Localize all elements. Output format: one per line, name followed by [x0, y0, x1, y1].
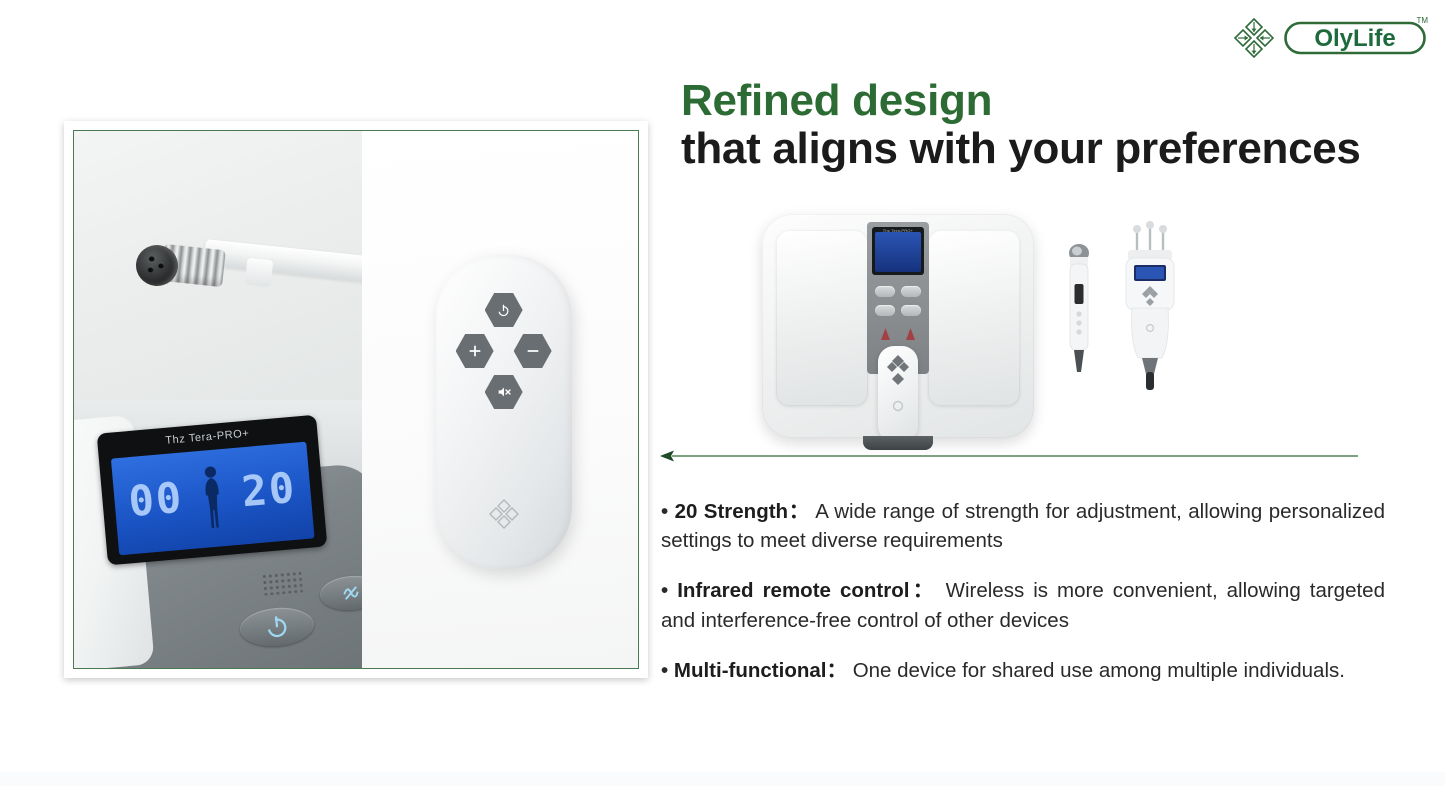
right-treatment-pad	[928, 230, 1020, 406]
cable-strain-relief	[245, 258, 274, 288]
brand-logo: OlyLife TM	[1232, 16, 1426, 60]
panel-button-3[interactable]	[875, 305, 895, 316]
product-photo-panel: Thz Tera-PRO+ 00 20	[64, 121, 648, 678]
device-panel-lcd-screen	[875, 232, 921, 272]
remote-control-photo	[362, 131, 638, 668]
three-prong-handheld-probe	[1120, 220, 1180, 392]
device-lcd-bezel: Thz Tera-PRO+ 00 20	[97, 414, 328, 565]
product-hero-row: Thz Tera-PRO+	[700, 200, 1400, 440]
panel-indicator-right	[906, 328, 915, 340]
bullet-marker: •	[661, 659, 668, 682]
brand-wordmark: OlyLife TM	[1284, 20, 1426, 56]
small-handheld-probe	[1066, 242, 1092, 382]
lcd-body-figure-icon	[199, 463, 227, 533]
headline-line-2: that aligns with your preferences	[681, 124, 1421, 173]
cable-body	[203, 239, 361, 289]
remote-control-body	[436, 255, 572, 569]
bullet-lead: 20 Strength：	[675, 500, 810, 523]
bullet-lead: Multi-functional：	[674, 659, 847, 682]
slide-bottom-strip	[0, 772, 1445, 786]
connector-pin	[158, 262, 165, 269]
feature-bullet-list: • 20 Strength： A wide range of strength …	[661, 476, 1385, 686]
connector-pin	[148, 255, 155, 262]
remote-mute-button[interactable]	[485, 375, 523, 409]
bullet-text: One device for shared use among multiple…	[853, 659, 1345, 682]
lcd-right-value: 20	[240, 462, 299, 516]
device-dock-foot	[863, 436, 933, 450]
connector-pin	[147, 266, 154, 273]
cable-connector-photo	[74, 131, 362, 400]
list-item: • Multi-functional： One device for share…	[661, 656, 1385, 686]
collage-left-column: Thz Tera-PRO+ 00 20	[74, 131, 362, 668]
headline-line-1: Refined design	[681, 78, 1421, 124]
svg-text:OlyLife: OlyLife	[1314, 25, 1395, 52]
device-panel-lcd: Thz Tera-PRO+	[872, 227, 924, 275]
docked-remote	[878, 346, 918, 442]
remote-clover-logo-icon	[487, 497, 521, 531]
lcd-left-value: 00	[127, 472, 186, 526]
panel-button-2[interactable]	[901, 286, 921, 297]
device-closeup-photo: Thz Tera-PRO+ 00 20	[74, 400, 362, 669]
panel-indicator-left	[881, 328, 890, 340]
bullet-marker: •	[661, 500, 668, 523]
trademark-symbol: TM	[1416, 16, 1428, 25]
panel-button-4[interactable]	[901, 305, 921, 316]
green-arrow-rule	[660, 449, 1358, 461]
product-photo-collage: Thz Tera-PRO+ 00 20	[73, 130, 639, 669]
main-device-unit: Thz Tera-PRO+	[762, 214, 1034, 438]
left-treatment-pad	[776, 230, 868, 406]
remote-power-button[interactable]	[485, 293, 523, 327]
device-panel-lcd-caption: Thz Tera-PRO+	[872, 228, 924, 233]
remote-decrease-button[interactable]	[514, 334, 552, 368]
panel-button-1[interactable]	[875, 286, 895, 297]
remote-increase-button[interactable]	[456, 334, 494, 368]
clover-logo-icon	[1232, 16, 1276, 60]
bullet-lead: Infrared remote control：	[677, 579, 936, 602]
device-speaker-grille	[261, 570, 303, 595]
page-title: Refined design that aligns with your pre…	[681, 78, 1421, 173]
list-item: • 20 Strength： A wide range of strength …	[661, 497, 1385, 556]
bullet-marker: •	[661, 579, 668, 602]
list-item: • Infrared remote control： Wireless is m…	[661, 576, 1385, 635]
device-lcd-screen: 00 20	[111, 441, 315, 555]
